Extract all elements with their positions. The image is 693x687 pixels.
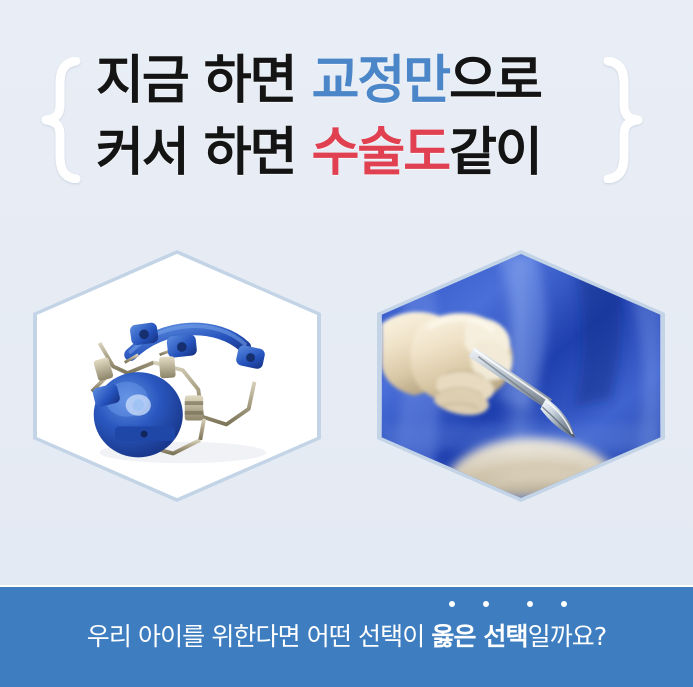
surgery-scalpel-image xyxy=(381,254,661,498)
headline-line-2: 커서 하면 수술도같이 xyxy=(96,120,596,186)
headline-line2-after: 같이 xyxy=(449,123,541,183)
headline-line-1: 지금 하면 교정만으로 xyxy=(96,48,596,114)
headline-lines: 지금 하면 교정만으로 커서 하면 수술도같이 xyxy=(96,44,596,196)
emphasis-dots xyxy=(449,601,569,611)
headline-line2-before: 커서 하면 xyxy=(96,123,312,183)
headline-line1-highlight: 교정만 xyxy=(312,51,450,111)
hexagon-surgery-photo xyxy=(377,250,665,502)
banner-text-after: 일까요? xyxy=(528,622,607,651)
bottom-banner: 우리 아이를 위한다면 어떤 선택이 옳은 선택일까요? xyxy=(0,585,693,687)
emphasis-dot xyxy=(483,601,489,607)
hexagon-orthodontic-appliance xyxy=(33,250,321,502)
banner-question-text: 우리 아이를 위한다면 어떤 선택이 옳은 선택일까요? xyxy=(0,620,693,654)
banner-text-emphasis: 옳은 선택 xyxy=(431,622,527,651)
headline-line2-highlight: 수술도 xyxy=(312,123,450,183)
headline-line1-after: 으로 xyxy=(449,51,541,111)
emphasis-dot xyxy=(527,601,533,607)
brace-right-icon xyxy=(598,57,644,183)
emphasis-dot xyxy=(561,601,567,607)
comparison-row: Or xyxy=(0,250,693,502)
hexagon-right-content xyxy=(381,254,661,498)
headline-block: 지금 하면 교정만으로 커서 하면 수술도같이 xyxy=(0,44,693,196)
emphasis-dot xyxy=(449,601,455,607)
hexagon-left-content xyxy=(37,254,317,498)
brace-left-icon xyxy=(40,57,86,183)
headline-line1-before: 지금 하면 xyxy=(96,51,312,111)
orthodontic-headgear-image xyxy=(37,254,317,498)
poster-root: 지금 하면 교정만으로 커서 하면 수술도같이 xyxy=(0,0,693,687)
banner-text-before: 우리 아이를 위한다면 어떤 선택이 xyxy=(87,622,432,651)
